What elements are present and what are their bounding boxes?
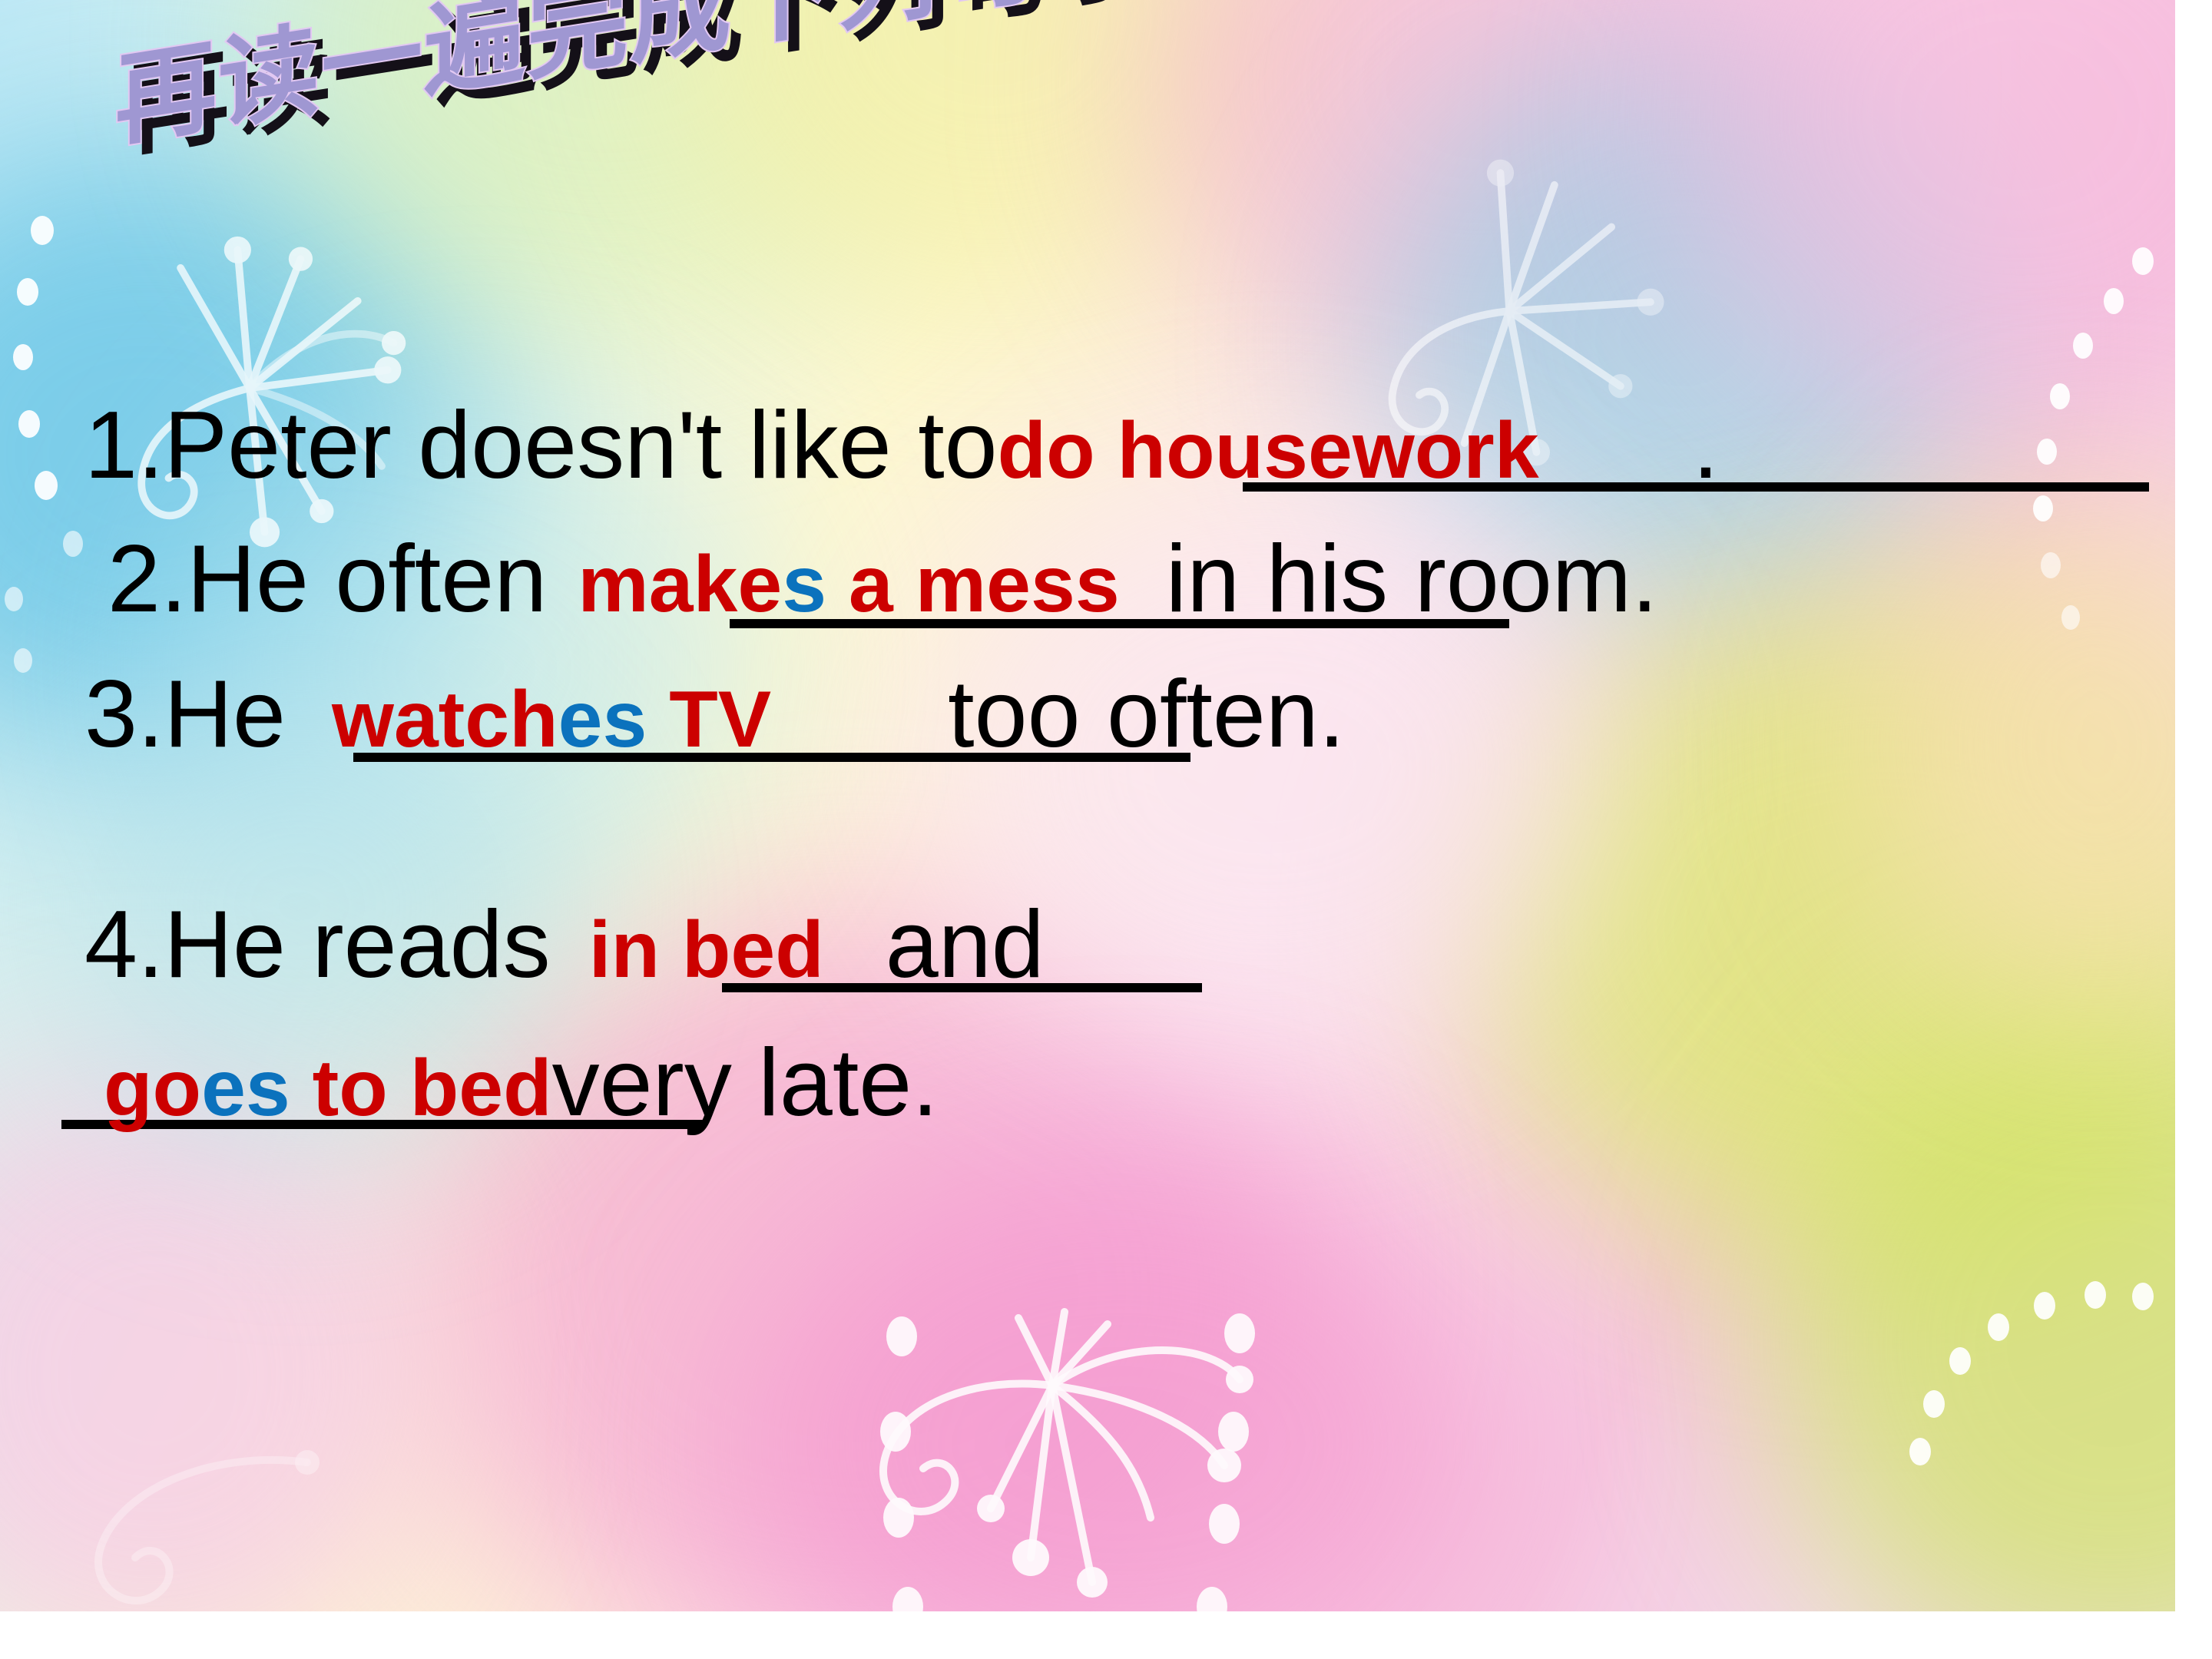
exercise-3-answer-blue: es [558, 675, 647, 764]
exercise-3-before: He [164, 661, 286, 767]
exercise-3-answer-red-1: watch [332, 675, 558, 764]
exercise-5-answer-red-1: go [104, 1044, 201, 1133]
exercise-line-4: 4.He readsin bedand [84, 897, 1045, 992]
exercise-3-after: too often. [948, 661, 1345, 767]
exercise-line-5: goes to bedvery late. [73, 1035, 939, 1131]
exercise-3-answer-red-2: TV [647, 675, 771, 764]
exercise-1-number: 1. [84, 392, 164, 498]
slide-canvas: 再读一遍完成下列句子 再读一遍完成下列句子 1.Peter doesn't li… [0, 0, 2212, 1659]
exercise-list: 1.Peter doesn't like todo housework. 2.H… [0, 192, 2212, 1498]
exercise-2-before: He often [187, 526, 547, 632]
exercise-2-answer-red-1: make [578, 540, 782, 629]
exercise-2-answer-blue: s [782, 540, 826, 629]
exercise-4-before: He reads [164, 892, 550, 998]
exercise-1-after: . [1693, 392, 1719, 498]
exercise-2-answer-red-2: a mess [826, 540, 1120, 629]
exercise-1-answer-red: do housework [998, 406, 1539, 495]
exercise-line-3: 3.Hewatches TVtoo often. [84, 667, 1345, 762]
exercise-5-answer-red-2: to bed [290, 1044, 552, 1133]
exercise-4-answer-red: in bed [589, 906, 824, 995]
exercise-4-number: 4. [84, 892, 164, 998]
exercise-4-after: and [886, 892, 1045, 998]
slide-right-edge [2175, 0, 2212, 1659]
exercise-2-after: in his room. [1166, 526, 1658, 632]
exercise-line-2: 2.He oftenmakes a messin his room. [108, 531, 1658, 627]
exercise-2-number: 2. [108, 526, 187, 632]
exercise-line-1: 1.Peter doesn't like todo housework. [84, 398, 1719, 493]
exercise-5-answer-blue: es [201, 1044, 290, 1133]
exercise-3-number: 3. [84, 661, 164, 767]
exercise-1-before: Peter doesn't like to [164, 392, 997, 498]
slide-bottom-edge [0, 1611, 2212, 1659]
exercise-5-after: very late. [552, 1030, 939, 1136]
